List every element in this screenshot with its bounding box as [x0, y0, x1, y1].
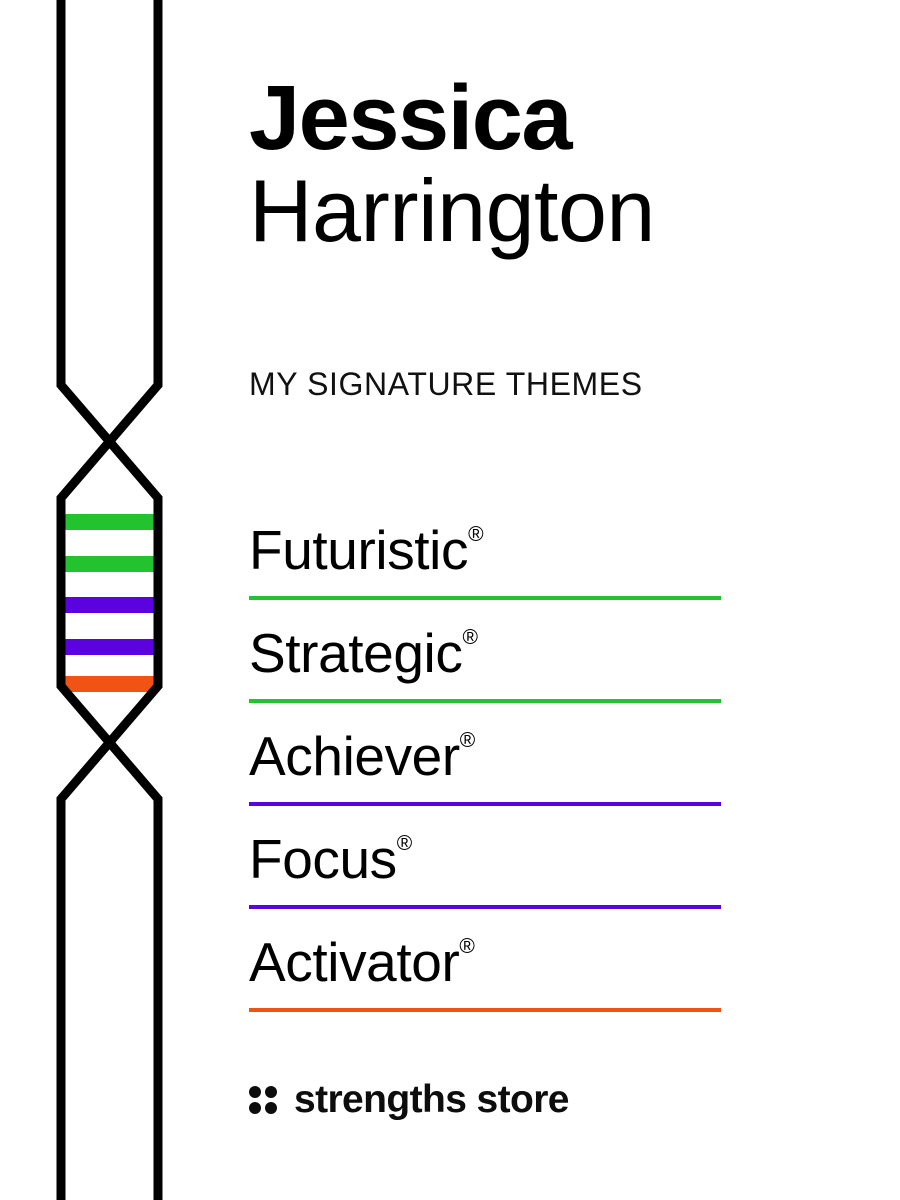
theme-row: Focus® — [249, 806, 721, 909]
theme-label-1: Futuristic — [249, 519, 468, 581]
person-name: Jessica Harrington — [249, 74, 879, 261]
registered-mark-icon: ® — [397, 832, 412, 855]
content-column: Jessica Harrington MY SIGNATURE THEMES F… — [249, 0, 879, 1200]
brand-name: strengths store — [294, 1080, 569, 1119]
four-dots-icon — [249, 1086, 277, 1114]
page-subtitle: MY SIGNATURE THEMES — [249, 366, 643, 403]
poster-canvas: Jessica Harrington MY SIGNATURE THEMES F… — [0, 0, 900, 1200]
logo-dot — [249, 1102, 261, 1114]
theme-label-3: Achiever — [249, 725, 460, 787]
logo-dot — [265, 1102, 277, 1114]
theme-row: Strategic® — [249, 600, 721, 703]
ribbon-band-3 — [61, 597, 155, 613]
theme-name-2: Strategic® — [249, 626, 478, 681]
brand-logo: strengths store — [249, 1080, 569, 1119]
theme-name-3: Achiever® — [249, 729, 475, 784]
first-name: Jessica — [249, 74, 879, 162]
ribbon-band-2 — [61, 556, 155, 572]
theme-row: Achiever® — [249, 703, 721, 806]
ribbon-band-4 — [61, 639, 155, 655]
twisted-ribbon-graphic — [0, 0, 220, 1200]
registered-mark-icon: ® — [462, 626, 477, 649]
theme-rule-5 — [249, 1008, 721, 1012]
ribbon-band-5 — [61, 676, 155, 692]
theme-name-4: Focus® — [249, 832, 412, 887]
theme-name-5: Activator® — [249, 935, 475, 990]
logo-dot — [249, 1086, 261, 1098]
theme-label-5: Activator — [249, 931, 459, 993]
registered-mark-icon: ® — [459, 935, 474, 958]
theme-label-4: Focus — [249, 828, 397, 890]
theme-name-1: Futuristic® — [249, 523, 484, 578]
signature-themes-list: Futuristic® Strategic® Achiever® Focus® … — [249, 497, 721, 1012]
ribbon-band-1 — [61, 514, 155, 530]
registered-mark-icon: ® — [460, 729, 475, 752]
logo-dot — [265, 1086, 277, 1098]
theme-row: Futuristic® — [249, 497, 721, 600]
theme-row: Activator® — [249, 909, 721, 1012]
registered-mark-icon: ® — [468, 523, 483, 546]
theme-label-2: Strategic — [249, 622, 462, 684]
last-name: Harrington — [249, 162, 879, 261]
ribbon-color-bands — [61, 514, 155, 692]
ribbon-svg — [0, 0, 220, 1200]
